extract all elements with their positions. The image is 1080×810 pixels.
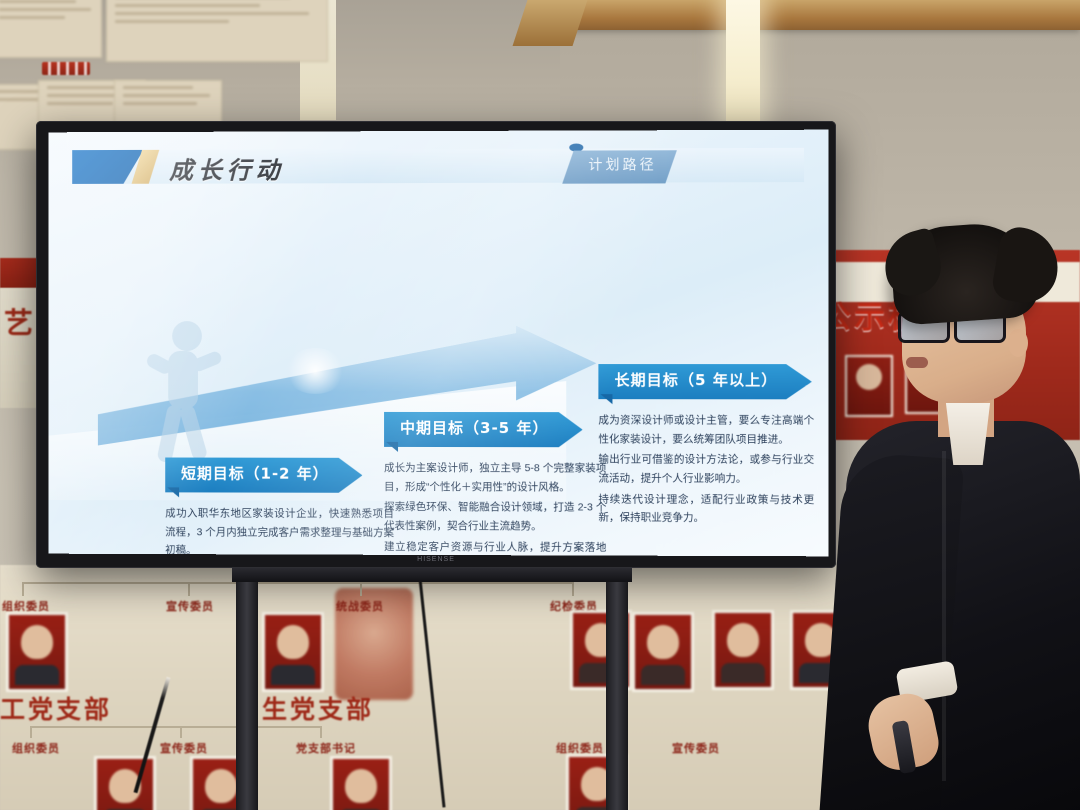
org-connector: [572, 582, 574, 596]
tab-marker-dot: [569, 144, 583, 152]
ceiling-beam: [560, 0, 1080, 30]
goal-paragraph: 持续迭代设计理念，适配行业政策与技术更新，保持职业竞争力。: [598, 490, 814, 528]
org-portrait: [94, 756, 156, 810]
wall-poster: [106, 0, 328, 62]
poster-red-tag: [42, 62, 90, 75]
presenter-ear: [1008, 329, 1028, 357]
tv-stand-leg: [236, 568, 258, 810]
presenter-jacket-placket: [942, 451, 946, 781]
presenter: [846, 225, 1080, 810]
goal-body-short-term: 成功入职华东地区家装设计企业，快速熟悉项目流程，3 个月内独立完成客户需求整理与…: [165, 504, 394, 556]
window-light-strip: [726, 0, 760, 128]
presenter-mouth: [906, 357, 928, 368]
goal-paragraph: 探索绿色环保、智能融合设计领域，打造 2-3 个代表性案例，契合行业主流趋势。: [384, 498, 606, 536]
org-connector: [22, 582, 572, 584]
org-portrait: [262, 612, 324, 692]
presentation-slide[interactable]: 成长行动 计划路径 短期目标（1-2 年） 成功入职华东地区家装设计企业，快速熟…: [48, 130, 828, 557]
org-section-heading: 工党支部: [0, 690, 112, 726]
goal-paragraph: 成功入职华东地区家装设计企业，快速熟悉项目流程，3 个月内独立完成客户需求整理与…: [165, 504, 394, 556]
goal-paragraph: 成长为主案设计师，独立主导 5-8 个完整家装项目，形成“个性化＋实用性”的设计…: [384, 459, 606, 497]
presenter-hair-right: [990, 224, 1064, 308]
goal-paragraph: 输出行业可借鉴的设计方法论，或参与行业交流活动，提升个人行业影响力。: [598, 451, 814, 489]
walking-person-silhouette: [142, 321, 233, 471]
org-role-label: 宣传委员: [160, 740, 208, 756]
goal-body-long-term: 成为资深设计师或设计主管，要么专注高端个性化家装设计，要么统筹团队项目推进。 输…: [598, 411, 814, 528]
goal-tag-mid-term: 中期目标（3-5 年）: [384, 412, 583, 447]
org-portrait: [712, 610, 774, 690]
org-connector: [30, 726, 320, 728]
org-connector: [320, 726, 322, 738]
org-section-heading: 生党支部: [262, 690, 374, 726]
goal-paragraph: 成为资深设计师或设计主管，要么专注高端个性化家装设计，要么统筹团队项目推进。: [598, 411, 814, 449]
tv-brand-logo: HISENSE: [417, 556, 455, 563]
org-role-label: 组织委员: [12, 740, 60, 756]
org-portrait: [330, 756, 392, 810]
org-role-label: 宣传委员: [672, 740, 720, 756]
goal-block-short-term: 短期目标（1-2 年） 成功入职华东地区家装设计企业，快速熟悉项目流程，3 个月…: [165, 458, 394, 557]
goal-tag-tail: [386, 442, 398, 452]
slide-section-tab[interactable]: 计划路径: [562, 150, 677, 183]
slide-title: 成长行动: [169, 150, 284, 185]
org-role-label: 党支部书记: [296, 740, 356, 756]
goal-block-mid-term: 中期目标（3-5 年） 成长为主案设计师，独立主导 5-8 个完整家装项目，形成…: [384, 412, 606, 556]
screenshot-root: 艺术 公示板 组织委员 宣传委员 统战委员 纪检委员 工党支部 生党支部 组织委: [0, 0, 1080, 810]
org-role-label: 统战委员: [336, 598, 384, 614]
org-connector: [180, 726, 182, 738]
org-portrait: [632, 612, 694, 692]
goal-paragraph: 建立稳定客户资源与行业人脉，提升方案落地率，成为团队核心设计力量。: [384, 538, 606, 557]
goal-tag-short-term: 短期目标（1-2 年）: [165, 458, 362, 493]
org-connector: [188, 582, 190, 596]
org-connector: [360, 582, 362, 596]
arrow-highlight: [284, 348, 346, 394]
goal-tag-long-term: 长期目标（5 年以上）: [598, 364, 811, 399]
org-role-label: 宣传委员: [166, 598, 214, 614]
org-connector: [30, 726, 32, 738]
wall-poster: [0, 0, 102, 58]
goal-block-long-term: 长期目标（5 年以上） 成为资深设计师或设计主管，要么专注高端个性化家装设计，要…: [598, 364, 814, 530]
tv-stand-leg: [606, 568, 628, 810]
org-connector: [22, 582, 24, 596]
goal-tag-tail: [600, 394, 612, 404]
tv-stand-bar: [232, 568, 632, 582]
org-portrait: [6, 612, 68, 692]
goal-body-mid-term: 成长为主案设计师，独立主导 5-8 个完整家装项目，形成“个性化＋实用性”的设计…: [384, 459, 606, 556]
